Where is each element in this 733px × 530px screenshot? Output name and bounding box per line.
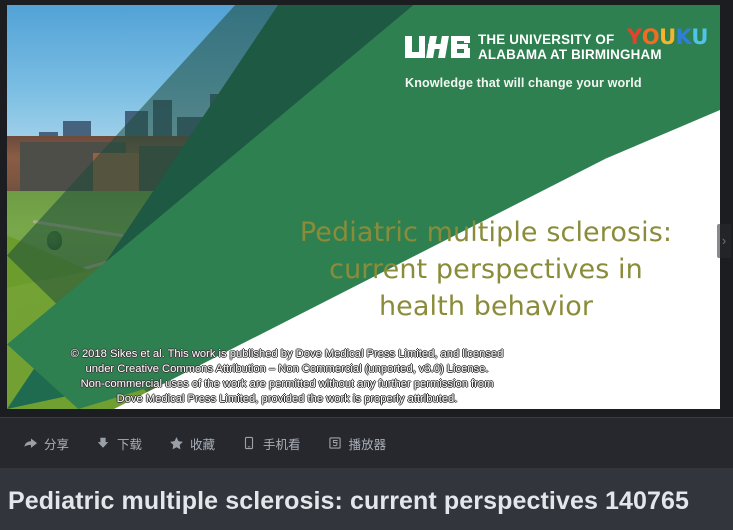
chevron-right-icon[interactable]: ›: [717, 224, 731, 258]
watch-on-phone-label: 手机看: [263, 434, 301, 453]
license-line-2: under Creative Commons Attribution – Non…: [7, 362, 567, 377]
share-icon: [22, 435, 38, 451]
download-label: 下载: [117, 434, 142, 453]
download-icon: [95, 435, 111, 451]
video-page: THE UNIVERSITY OF ALABAMA AT BIRMINGHAM …: [0, 0, 733, 530]
video-action-toolbar: 分享 下载 收藏: [0, 417, 733, 468]
slide-title-line-1: Pediatric multiple sclerosis:: [270, 215, 702, 252]
page-title: Pediatric multiple sclerosis: current pe…: [8, 487, 689, 516]
license-line-4: Dove Medical Press Limited, provided the…: [7, 392, 567, 407]
license-notice: © 2018 Sikes et al. This work is publish…: [7, 347, 567, 407]
share-button[interactable]: 分享: [22, 434, 69, 453]
slide-title: Pediatric multiple sclerosis: current pe…: [270, 215, 702, 325]
youku-letter-o: O: [642, 27, 659, 48]
player-button[interactable]: 播放器: [327, 434, 387, 453]
download-button[interactable]: 下载: [95, 434, 142, 453]
youku-letter-u2: U: [691, 27, 708, 48]
youku-letter-k: K: [676, 27, 692, 48]
star-icon: [168, 435, 184, 451]
slide-title-line-3: health behavior: [270, 289, 702, 326]
slide-canvas: THE UNIVERSITY OF ALABAMA AT BIRMINGHAM …: [7, 5, 720, 409]
youku-letter-y: Y: [627, 27, 642, 48]
uab-tagline: Knowledge that will change your world: [405, 76, 642, 90]
license-line-1: © 2018 Sikes et al. This work is publish…: [7, 347, 567, 362]
favorite-label: 收藏: [190, 434, 215, 453]
favorite-button[interactable]: 收藏: [168, 434, 215, 453]
slide-title-line-2: current perspectives in: [270, 252, 702, 289]
player-label: 播放器: [349, 434, 387, 453]
phone-icon: [241, 435, 257, 451]
watch-on-phone-button[interactable]: 手机看: [241, 434, 301, 453]
youku-letter-u1: U: [659, 27, 676, 48]
player-icon: [327, 435, 343, 451]
youku-watermark-logo: YOUKU: [627, 27, 708, 48]
uab-logo-icon: [405, 34, 471, 60]
video-player-stage[interactable]: THE UNIVERSITY OF ALABAMA AT BIRMINGHAM …: [0, 0, 733, 417]
uab-name-line2: ALABAMA AT BIRMINGHAM: [478, 47, 662, 62]
license-line-3: Non-commercial uses of the work are perm…: [7, 377, 567, 392]
share-label: 分享: [44, 434, 69, 453]
